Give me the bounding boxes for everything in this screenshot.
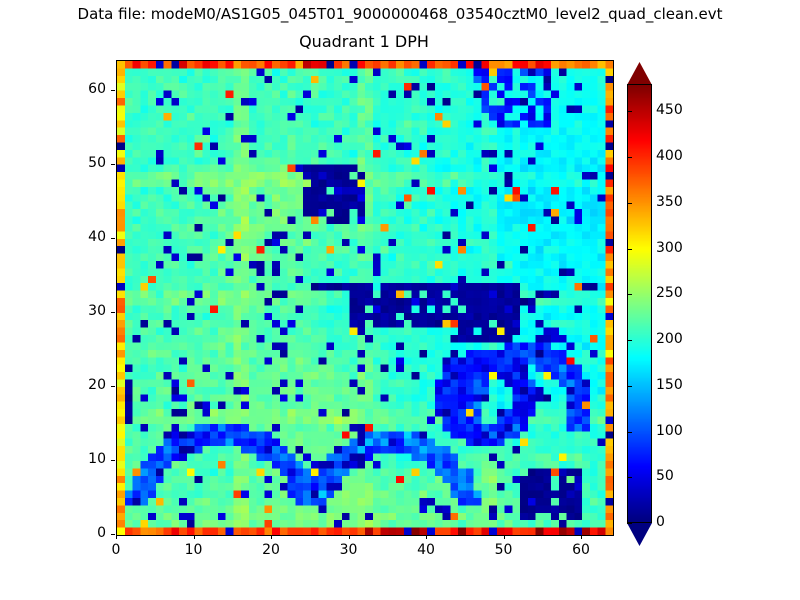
colorbar-tick — [627, 203, 632, 204]
figure-canvas: Data file: modeM0/AS1G05_045T01_90000004… — [0, 0, 800, 600]
y-axis-tick — [111, 312, 115, 313]
colorbar-tick-label: 400 — [656, 148, 683, 164]
x-axis-tick — [116, 535, 117, 539]
colorbar-tick-label: 100 — [656, 423, 683, 439]
y-axis-tick — [111, 386, 115, 387]
colorbar-body[interactable] — [627, 84, 652, 523]
colorbar-tick-label: 250 — [656, 285, 683, 301]
x-axis-tick-label: 40 — [396, 542, 456, 558]
y-axis-tick-label: 0 — [62, 525, 106, 541]
y-axis-tick — [111, 534, 115, 535]
colorbar-tick — [627, 340, 632, 341]
colorbar-tick — [627, 386, 632, 387]
colorbar-tick — [627, 111, 632, 112]
colorbar-extend-max-arrow — [627, 62, 652, 85]
heatmap-image[interactable] — [117, 61, 613, 535]
x-axis-tick — [581, 535, 582, 539]
colorbar[interactable] — [627, 62, 652, 545]
x-axis-tick — [194, 535, 195, 539]
colorbar-tick-label: 200 — [656, 331, 683, 347]
x-axis-tick-label: 0 — [86, 542, 146, 558]
y-axis-tick — [111, 238, 115, 239]
colorbar-tick — [627, 477, 632, 478]
x-axis-tick-label: 10 — [164, 542, 224, 558]
axes-title: Quadrant 1 DPH — [116, 32, 612, 51]
y-axis-tick — [111, 90, 115, 91]
colorbar-tick — [627, 523, 632, 524]
x-axis-tick-label: 20 — [241, 542, 301, 558]
y-axis-tick-label: 50 — [62, 155, 106, 171]
y-axis-tick-label: 60 — [62, 81, 106, 97]
colorbar-tick-label: 50 — [656, 468, 674, 484]
x-axis-tick — [504, 535, 505, 539]
y-axis-tick-label: 20 — [62, 377, 106, 393]
colorbar-tick — [627, 157, 632, 158]
colorbar-tick — [627, 294, 632, 295]
x-axis-tick-label: 50 — [474, 542, 534, 558]
y-axis-tick-label: 30 — [62, 303, 106, 319]
y-axis-tick-label: 10 — [62, 451, 106, 467]
y-axis-tick — [111, 460, 115, 461]
colorbar-gradient — [628, 85, 651, 522]
colorbar-tick-label: 300 — [656, 240, 683, 256]
heatmap-axes[interactable] — [116, 60, 614, 536]
x-axis-tick — [349, 535, 350, 539]
x-axis-tick-label: 30 — [319, 542, 379, 558]
colorbar-tick-label: 150 — [656, 377, 683, 393]
colorbar-tick — [627, 432, 632, 433]
colorbar-tick-label: 350 — [656, 194, 683, 210]
x-axis-tick — [271, 535, 272, 539]
y-axis-tick — [111, 164, 115, 165]
colorbar-extend-min-arrow — [627, 523, 652, 546]
figure-suptitle: Data file: modeM0/AS1G05_045T01_90000004… — [0, 5, 800, 23]
colorbar-tick-label: 0 — [656, 514, 665, 530]
x-axis-tick-label: 60 — [551, 542, 611, 558]
colorbar-tick — [627, 249, 632, 250]
y-axis-tick-label: 40 — [62, 229, 106, 245]
colorbar-tick-label: 450 — [656, 102, 683, 118]
x-axis-tick — [426, 535, 427, 539]
